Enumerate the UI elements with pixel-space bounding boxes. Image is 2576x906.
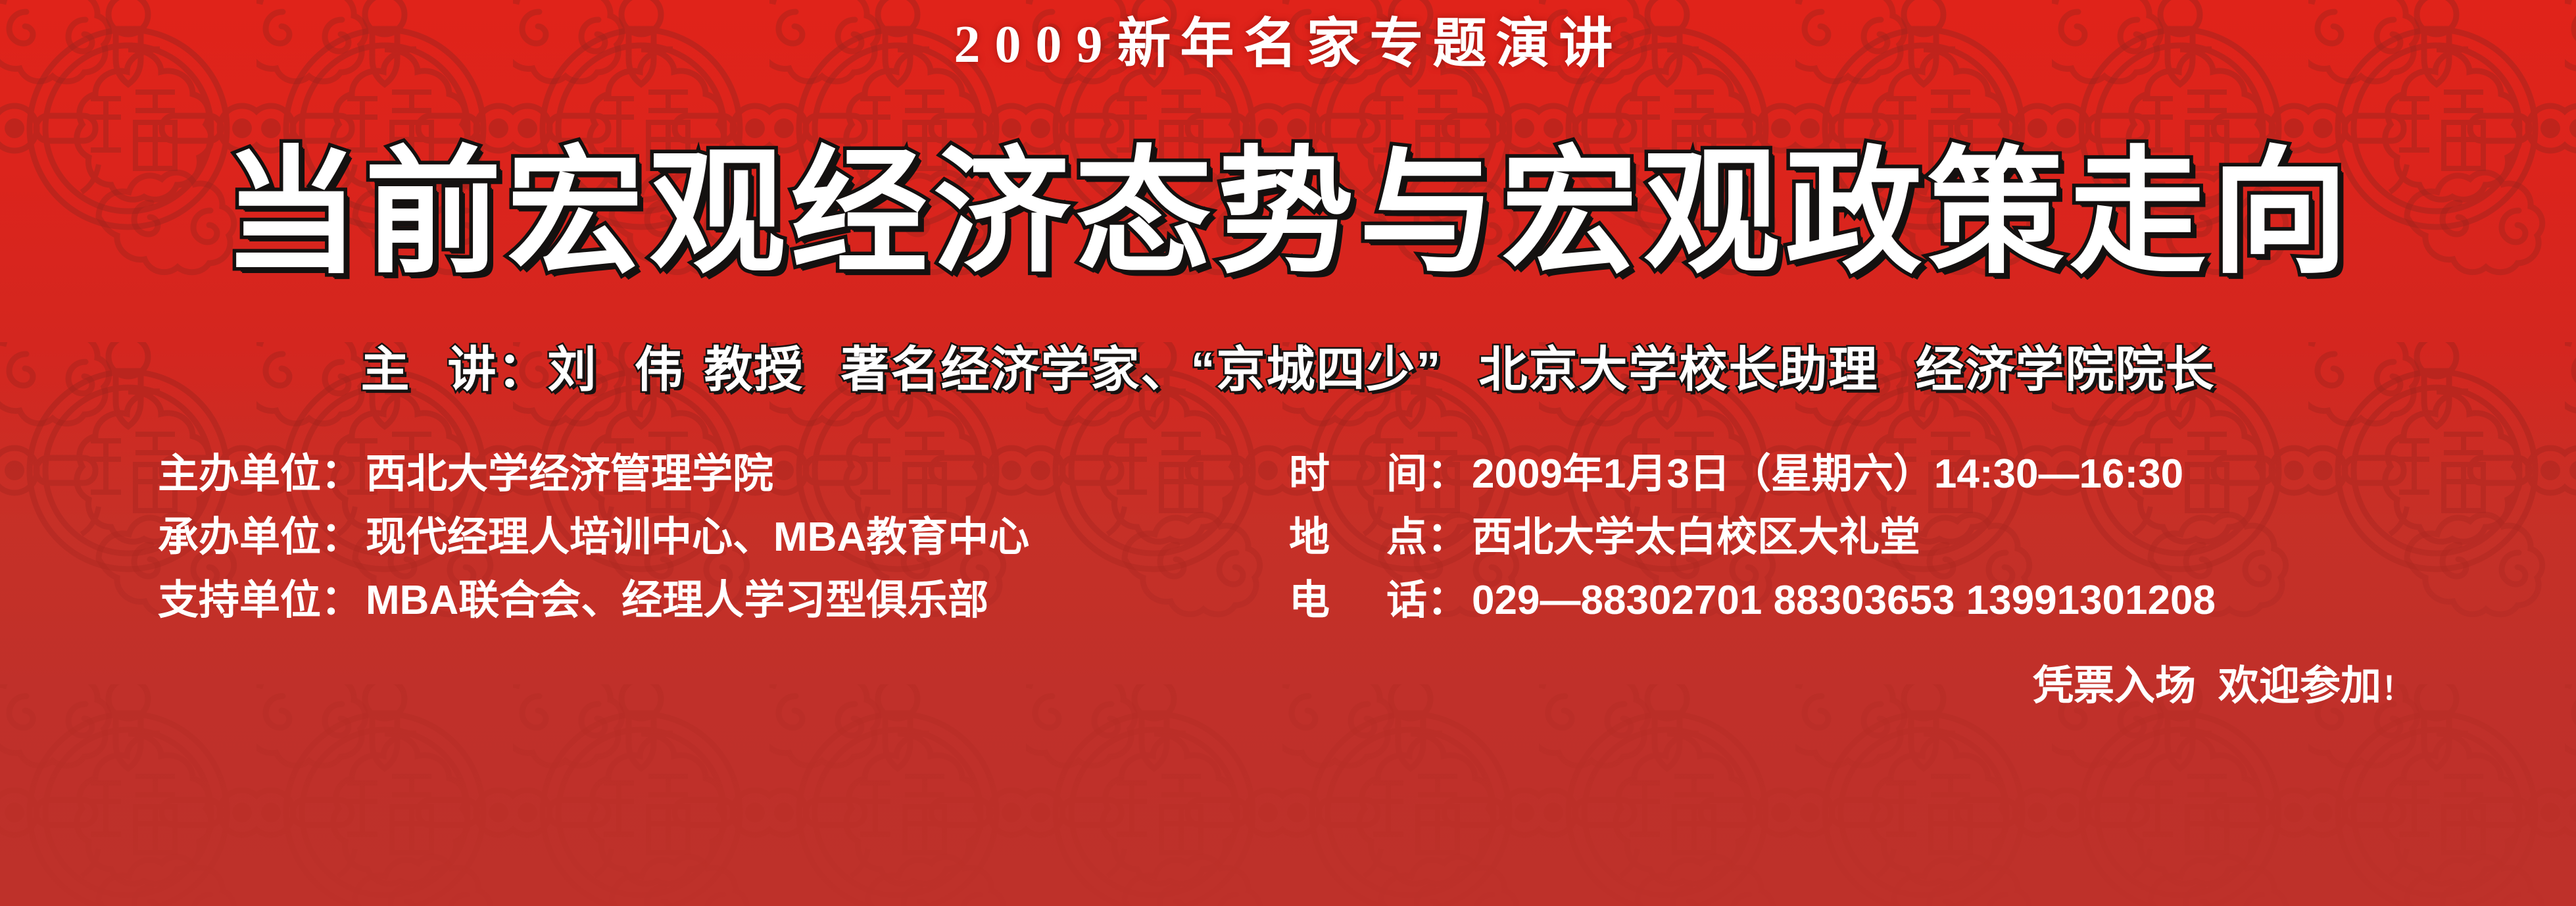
- page-title: 当前宏观经济态势与宏观政策走向: [0, 145, 2576, 282]
- supporter-label: 支持单位: [158, 578, 321, 623]
- supporter-colon: ：: [321, 578, 362, 623]
- speaker-credential-1: 著名经济学家、: [841, 342, 1191, 397]
- speaker-credential-3: 北京大学校长助理: [1479, 342, 1879, 397]
- detail-row: 支持单位：MBA联合会、经理人学习型俱乐部 电话：029—88302701 88…: [158, 580, 2414, 643]
- venue-label-a: 地: [1289, 515, 1330, 560]
- time-colon: ：: [1427, 451, 1468, 497]
- admission-ticket-text: 凭票入场: [2033, 663, 2196, 709]
- admission-note: 凭票入场欢迎参加！: [2033, 666, 2413, 707]
- coorganizer-colon: ：: [321, 515, 362, 560]
- organizer-colon: ：: [321, 451, 362, 497]
- event-banner: 2009新年名家专题演讲 当前宏观经济态势与宏观政策走向 主讲：刘伟教授著名经济…: [0, 0, 2576, 906]
- detail-phone: 电话：029—88302701 88303653 13991301208: [1289, 580, 2414, 621]
- venue-colon: ：: [1427, 515, 1468, 560]
- venue-label-b: 点: [1386, 515, 1427, 560]
- detail-row: 承办单位：现代经理人培训中心、MBA教育中心 地点：西北大学太白校区大礼堂: [158, 517, 2414, 580]
- organizer-label: 主办单位: [158, 451, 321, 497]
- speaker-credential-4: 经济学院院长: [1916, 342, 2216, 397]
- venue-value: 西北大学太白校区大礼堂: [1472, 515, 1920, 560]
- coorganizer-value: 现代经理人培训中心、MBA教育中心: [366, 515, 1029, 560]
- speaker-name: 刘: [548, 342, 598, 397]
- kicker-line: 2009新年名家专题演讲: [0, 17, 2576, 71]
- supporter-value: MBA联合会、经理人学习型俱乐部: [366, 578, 988, 623]
- time-value: 2009年1月3日（星期六）14:30—16:30: [1472, 451, 2183, 497]
- speaker-name-second: 伟: [635, 342, 685, 397]
- speaker-rank: 教授: [704, 342, 804, 397]
- detail-venue: 地点：西北大学太白校区大礼堂: [1289, 517, 2414, 558]
- speaker-label-b: 讲：: [448, 342, 548, 397]
- detail-time: 时间：2009年1月3日（星期六）14:30—16:30: [1289, 454, 2414, 495]
- detail-row: 主办单位：西北大学经济管理学院 时间：2009年1月3日（星期六）14:30—1…: [158, 454, 2414, 517]
- detail-coorganizer: 承办单位：现代经理人培训中心、MBA教育中心: [158, 517, 1289, 558]
- time-label-b: 间: [1386, 451, 1427, 497]
- detail-organizer: 主办单位：西北大学经济管理学院: [158, 454, 1289, 495]
- kicker-year: 2009: [954, 16, 1117, 74]
- event-details: 主办单位：西北大学经济管理学院 时间：2009年1月3日（星期六）14:30—1…: [158, 454, 2414, 643]
- speaker-label-a: 主: [361, 342, 411, 397]
- kicker-rest: 新年名家专题演讲: [1117, 14, 1622, 74]
- detail-supporter: 支持单位：MBA联合会、经理人学习型俱乐部: [158, 580, 1289, 621]
- coorganizer-label: 承办单位: [158, 515, 321, 560]
- phone-label-a: 电: [1289, 578, 1330, 623]
- phone-value: 029—88302701 88303653 13991301208: [1472, 578, 2216, 623]
- organizer-value: 西北大学经济管理学院: [366, 451, 773, 497]
- time-label-a: 时: [1289, 451, 1330, 497]
- admission-welcome-text: 欢迎参加: [2218, 663, 2381, 709]
- phone-colon: ：: [1427, 578, 1468, 623]
- phone-label-b: 话: [1386, 578, 1427, 623]
- speaker-credential-2: “京城四少”: [1191, 342, 1442, 397]
- admission-exclamation: ！: [2381, 672, 2413, 707]
- speaker-line: 主讲：刘伟教授著名经济学家、“京城四少”北京大学校长助理经济学院院长: [0, 345, 2576, 394]
